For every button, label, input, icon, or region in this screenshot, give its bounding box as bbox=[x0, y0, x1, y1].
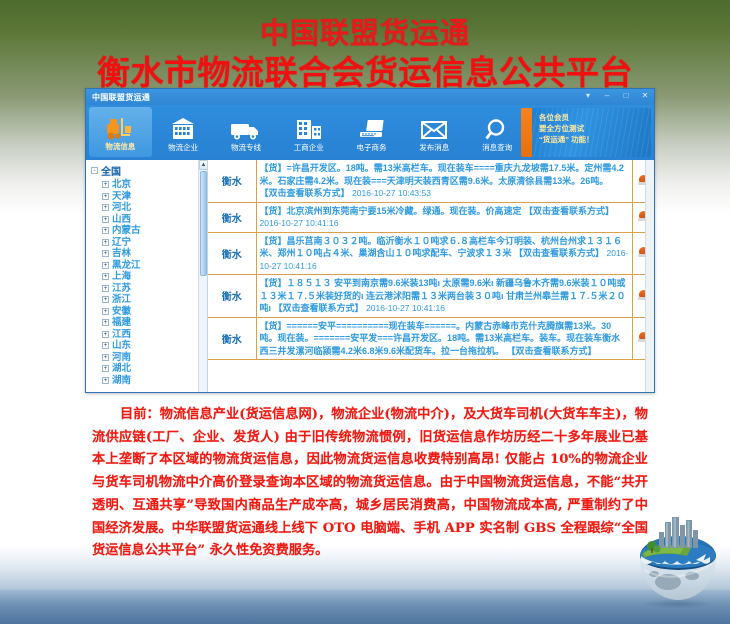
toolbar-label: 电子商务 bbox=[357, 143, 387, 152]
sidebar-item-tianjin[interactable]: +天津 bbox=[88, 191, 207, 203]
sidebar-item-label: 湖北 bbox=[112, 363, 131, 375]
tree-toggle-icon[interactable]: + bbox=[102, 296, 109, 303]
tree-toggle-icon[interactable]: + bbox=[102, 365, 109, 372]
sidebar-item-label: 内蒙古 bbox=[112, 225, 141, 237]
background-bottom-sheen bbox=[0, 590, 730, 624]
office-icon bbox=[294, 114, 324, 142]
sidebar-item-label: 安徽 bbox=[112, 306, 131, 318]
sidebar-item-label: 辽宁 bbox=[112, 237, 131, 249]
toolbar-item-publish-message[interactable]: 发布消息 bbox=[403, 105, 466, 160]
sidebar-item-label: 河北 bbox=[112, 202, 131, 214]
tree-toggle-icon[interactable]: + bbox=[102, 216, 109, 223]
toolbar-label: 物流专线 bbox=[231, 143, 261, 152]
sidebar-item-label: 山东 bbox=[112, 340, 131, 352]
table-row[interactable]: 衡水 【货】昌乐莒南３０３２吨。临沂衡水１０吨求６.８高栏车今订明装、杭州台州求… bbox=[208, 232, 654, 275]
row-timestamp: 2016-10-27 10:43:53 bbox=[352, 188, 431, 198]
sidebar-scrollbar-thumb[interactable] bbox=[200, 171, 207, 276]
sidebar-item-label: 浙江 bbox=[112, 294, 131, 306]
toolbar-label: 发布消息 bbox=[419, 143, 449, 152]
row-timestamp: 2016-10-27 10:41:16 bbox=[366, 303, 445, 313]
row-message: 【货】北京滨州到东莞南宁要15米冷藏。绿通。现在装。价高速定 【双击查看联系方式… bbox=[260, 206, 615, 216]
tree-toggle-icon[interactable]: + bbox=[102, 308, 109, 315]
sidebar-item-fujian[interactable]: +福建 bbox=[88, 317, 207, 329]
tree-toggle-icon[interactable]: + bbox=[102, 285, 109, 292]
sidebar-item-henan[interactable]: +河南 bbox=[88, 352, 207, 364]
tree-toggle-icon[interactable]: + bbox=[102, 204, 109, 211]
help-button[interactable]: ▾ bbox=[582, 90, 594, 102]
computer-icon bbox=[356, 114, 388, 142]
truck-icon bbox=[230, 114, 262, 142]
row-message: 【货】======安平==========现在装车======。内蒙古赤峰市克什… bbox=[260, 321, 621, 356]
sidebar-item-shandong[interactable]: +山东 bbox=[88, 340, 207, 352]
tree-toggle-icon[interactable]: + bbox=[102, 342, 109, 349]
sidebar-item-heilongjiang[interactable]: +黑龙江 bbox=[88, 260, 207, 272]
sidebar-item-shanghai[interactable]: +上海 bbox=[88, 271, 207, 283]
sidebar-item-label: 河南 bbox=[112, 352, 131, 364]
row-content: 【货】=许昌开发区。18吨。需13米高栏车。现在装车====重庆九龙坡需17.5… bbox=[256, 160, 632, 202]
sidebar-item-hebei[interactable]: +河北 bbox=[88, 202, 207, 214]
sidebar-item-label: 江苏 bbox=[112, 283, 131, 295]
tree-root-label: 全国 bbox=[101, 163, 121, 178]
window-titlebar[interactable]: 中国联盟货运通 ▾ – □ ✕ bbox=[86, 89, 654, 105]
toolbar-label: 物流企业 bbox=[168, 143, 198, 152]
row-content: 【货】昌乐莒南３０３２吨。临沂衡水１０吨求６.８高栏车今订明装、杭州台州求１３１… bbox=[256, 232, 632, 275]
sidebar-item-label: 吉林 bbox=[112, 248, 131, 260]
sidebar-item-zhejiang[interactable]: +浙江 bbox=[88, 294, 207, 306]
sidebar-item-jilin[interactable]: +吉林 bbox=[88, 248, 207, 260]
tree-toggle-icon[interactable]: - bbox=[91, 167, 98, 174]
sidebar-item-label: 福建 bbox=[112, 317, 131, 329]
tree-toggle-icon[interactable]: + bbox=[102, 227, 109, 234]
sidebar-item-anhui[interactable]: +安徽 bbox=[88, 306, 207, 318]
member-notice-banner[interactable]: 各位会员 要全方位测试 “货运通” 功能！ bbox=[521, 108, 651, 157]
sidebar-item-label: 天津 bbox=[112, 191, 131, 203]
tree-toggle-icon[interactable]: + bbox=[102, 319, 109, 326]
tree-toggle-icon[interactable]: + bbox=[102, 354, 109, 361]
sidebar-item-label: 黑龙江 bbox=[112, 260, 141, 272]
main-toolbar: 物流信息 物流企业 bbox=[86, 105, 654, 160]
toolbar-item-logistics-info[interactable]: 物流信息 bbox=[89, 107, 152, 157]
window-controls: ▾ – □ ✕ bbox=[582, 90, 651, 102]
toolbar-item-ecommerce[interactable]: 电子商务 bbox=[340, 105, 403, 160]
row-content: 【货】======安平==========现在装车======。内蒙古赤峰市克什… bbox=[256, 317, 632, 360]
promotional-paragraph: 目前：物流信息产业(货运信息网)，物流企业(物流中介)，及大货车司机(大货车车主… bbox=[92, 404, 648, 563]
table-row[interactable]: 衡水 【货】北京滨州到东莞南宁要15米冷藏。绿通。现在装。价高速定 【双击查看联… bbox=[208, 202, 654, 232]
row-message: 【货】昌乐莒南３０３２吨。临沂衡水１０吨求６.８高栏车今订明装、杭州台州求１３１… bbox=[260, 236, 623, 259]
sidebar-item-inner-mongolia[interactable]: +内蒙古 bbox=[88, 225, 207, 237]
banner-line-2: 要全方位测试 bbox=[539, 123, 651, 134]
banner-accent-bar bbox=[521, 108, 532, 157]
region-tree-sidebar: - 全国 +北京 +天津 +河北 +山西 +内蒙古 +辽宁 +吉林 +黑龙江 +… bbox=[86, 160, 208, 392]
toolbar-label: 物流信息 bbox=[105, 142, 135, 151]
sidebar-scrollbar[interactable]: ▲ bbox=[198, 160, 207, 392]
row-content: 【货】１８５１３ 安平到南京需9.6米装13吨ı 太原需9.6米ı 新疆乌鲁木齐… bbox=[256, 275, 632, 318]
envelope-icon bbox=[419, 114, 449, 142]
tree-toggle-icon[interactable]: + bbox=[102, 193, 109, 200]
sidebar-item-hunan[interactable]: +湖南 bbox=[88, 375, 207, 387]
sidebar-item-beijing[interactable]: +北京 bbox=[88, 179, 207, 191]
toolbar-item-logistics-line[interactable]: 物流专线 bbox=[215, 105, 278, 160]
sidebar-item-jiangxi[interactable]: +江西 bbox=[88, 329, 207, 341]
maximize-button[interactable]: □ bbox=[620, 90, 632, 102]
freight-info-table-container: 衡水 【货】=许昌开发区。18吨。需13米高栏车。现在装车====重庆九龙坡需1… bbox=[208, 160, 654, 392]
earth-globe-icon bbox=[632, 512, 724, 608]
row-message: 【货】=许昌开发区。18吨。需13米高栏车。现在装车====重庆九龙坡需17.5… bbox=[260, 163, 624, 198]
window-title: 中国联盟货运通 bbox=[92, 92, 150, 103]
table-row[interactable]: 衡水 【货】======安平==========现在装车======。内蒙古赤峰… bbox=[208, 317, 654, 360]
tree-toggle-icon[interactable]: + bbox=[102, 273, 109, 280]
sidebar-item-liaoning[interactable]: +辽宁 bbox=[88, 237, 207, 249]
scroll-up-arrow-icon[interactable]: ▲ bbox=[199, 160, 208, 170]
banner-line-1: 各位会员 bbox=[539, 112, 651, 123]
row-city: 衡水 bbox=[208, 232, 256, 275]
sidebar-item-label: 江西 bbox=[112, 329, 131, 341]
toolbar-item-industrial-company[interactable]: 工商企业 bbox=[277, 105, 340, 160]
forklift-icon bbox=[105, 113, 135, 141]
sidebar-item-label: 上海 bbox=[112, 271, 131, 283]
row-timestamp: 2016-10-27 10:41:16 bbox=[260, 218, 339, 228]
table-row[interactable]: 衡水 【货】=许昌开发区。18吨。需13米高栏车。现在装车====重庆九龙坡需1… bbox=[208, 160, 654, 202]
sidebar-item-label: 山西 bbox=[112, 214, 131, 226]
toolbar-item-message-query[interactable]: 消息查询 bbox=[466, 105, 529, 160]
sidebar-item-label: 湖南 bbox=[112, 375, 131, 387]
search-icon bbox=[484, 114, 510, 142]
row-city: 衡水 bbox=[208, 202, 256, 232]
banner-body: 各位会员 要全方位测试 “货运通” 功能！ bbox=[532, 108, 651, 157]
row-content: 【货】北京滨州到东莞南宁要15米冷藏。绿通。现在装。价高速定 【双击查看联系方式… bbox=[256, 202, 632, 232]
toolbar-label: 工商企业 bbox=[294, 143, 324, 152]
row-city: 衡水 bbox=[208, 275, 256, 318]
application-window: 中国联盟货运通 ▾ – □ ✕ 物流信息 bbox=[85, 88, 655, 393]
toolbar-label: 消息查询 bbox=[482, 143, 512, 152]
sidebar-item-jiangsu[interactable]: +江苏 bbox=[88, 283, 207, 295]
freight-info-table: 衡水 【货】=许昌开发区。18吨。需13米高栏车。现在装车====重庆九龙坡需1… bbox=[208, 160, 654, 360]
minimize-button[interactable]: – bbox=[601, 90, 613, 102]
headline-line-1: 中国联盟货运通 bbox=[0, 14, 730, 52]
close-button[interactable]: ✕ bbox=[639, 90, 651, 102]
toolbar-item-logistics-company[interactable]: 物流企业 bbox=[152, 105, 215, 160]
row-city: 衡水 bbox=[208, 160, 256, 202]
tree-toggle-icon[interactable]: + bbox=[102, 262, 109, 269]
sidebar-item-label: 北京 bbox=[112, 179, 131, 191]
table-scrollbar[interactable] bbox=[645, 160, 654, 392]
page-title: 中国联盟货运通 衡水市物流联合会货运信息公共平台 bbox=[0, 14, 730, 94]
table-row[interactable]: 衡水 【货】１８５１３ 安平到南京需9.6米装13吨ı 太原需9.6米ı 新疆乌… bbox=[208, 275, 654, 318]
banner-line-3: “货运通” 功能！ bbox=[539, 134, 651, 145]
window-body: - 全国 +北京 +天津 +河北 +山西 +内蒙古 +辽宁 +吉林 +黑龙江 +… bbox=[86, 160, 654, 392]
sidebar-item-hubei[interactable]: +湖北 bbox=[88, 363, 207, 375]
tree-root-nationwide[interactable]: - 全国 bbox=[88, 162, 207, 179]
tree-toggle-icon[interactable]: + bbox=[102, 181, 109, 188]
tree-toggle-icon[interactable]: + bbox=[102, 250, 109, 257]
tree-toggle-icon[interactable]: + bbox=[102, 239, 109, 246]
building-icon bbox=[169, 114, 197, 142]
row-city: 衡水 bbox=[208, 317, 256, 360]
tree-toggle-icon[interactable]: + bbox=[102, 331, 109, 338]
tree-toggle-icon[interactable]: + bbox=[102, 377, 109, 384]
sidebar-item-shanxi[interactable]: +山西 bbox=[88, 214, 207, 226]
